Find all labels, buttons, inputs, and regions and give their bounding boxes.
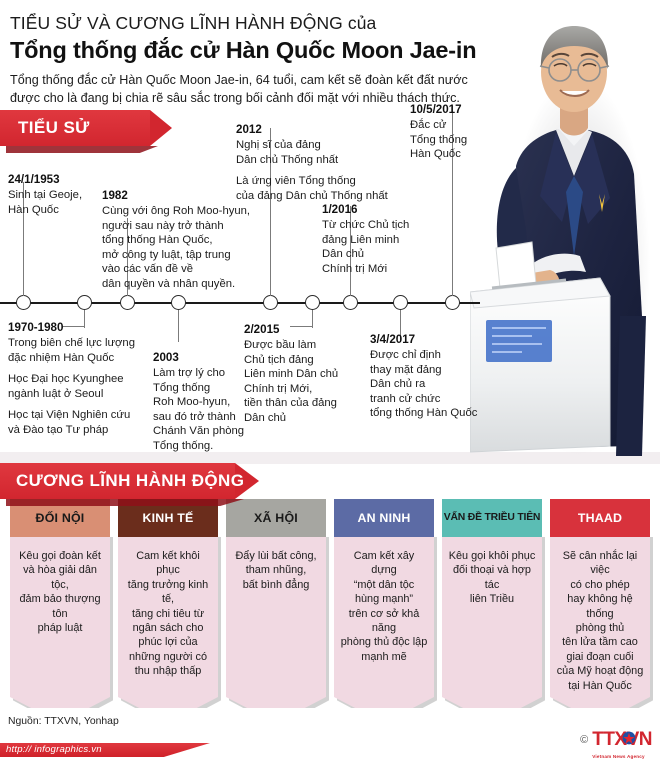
timeline-date: 2003 bbox=[153, 350, 253, 365]
timeline-node-2015 bbox=[305, 295, 320, 310]
column-body-text: Kêu gọi đoàn kết và hòa giải dân tộc, đả… bbox=[19, 550, 101, 634]
site-url-text: http:// infographics.vn bbox=[6, 743, 102, 757]
timeline-date: 1/2016 bbox=[322, 202, 432, 217]
column-body: Kêu gọi đoàn kết và hòa giải dân tộc, đả… bbox=[10, 537, 110, 723]
timeline-node-2012 bbox=[263, 295, 278, 310]
infographic-page: TIỂU SỬ VÀ CƯƠNG LĨNH HÀNH ĐỘNG của Tổng… bbox=[0, 0, 660, 763]
copyright-icon: © bbox=[580, 734, 588, 746]
timeline-body: Học tại Viện Nghiên cứu và Đào tạo Tư ph… bbox=[8, 408, 158, 437]
column-body: Sẽ cân nhắc lại việc có cho phép hay khô… bbox=[550, 537, 650, 723]
timeline-body: Được chỉ định thay mặt đảng Dân chủ ra t… bbox=[370, 348, 500, 421]
banner-shadow bbox=[6, 499, 244, 506]
timeline-body: Cùng với ông Roh Moo-hyun, người sau này… bbox=[102, 204, 262, 292]
biography-timeline: 24/1/1953 Sinh tại Geoje, Hàn Quốc 1982 … bbox=[0, 110, 660, 455]
site-url-bar[interactable]: http:// infographics.vn bbox=[0, 743, 210, 757]
column-header: AN NINH bbox=[334, 499, 434, 537]
timeline-body: Đắc cử Tổng thống Hàn Quốc bbox=[410, 118, 510, 162]
platform-column-doi-noi[interactable]: ĐỐI NỘI Kêu gọi đoàn kết và hòa giải dân… bbox=[10, 499, 110, 723]
column-header: THAAD bbox=[550, 499, 650, 537]
timeline-node-1982 bbox=[120, 295, 135, 310]
timeline-body: Được bầu làm Chủ tịch đảng Liên minh Dân… bbox=[244, 338, 359, 426]
timeline-body: Từ chức Chủ tịch đảng Liên minh Dân chủ … bbox=[322, 218, 432, 276]
timeline-node-1953 bbox=[16, 295, 31, 310]
column-body: Cam kết xây dựng “một dân tộc hùng mạnh”… bbox=[334, 537, 434, 723]
timeline-stem-2003 bbox=[178, 310, 179, 342]
column-body-text: Sẽ cân nhắc lại việc có cho phép hay khô… bbox=[557, 550, 644, 692]
footer: Nguồn: TTXVN, Yonhap http:// infographic… bbox=[0, 708, 660, 763]
timeline-body: Học Đại học Kyunghee ngành luật ở Seoul bbox=[8, 372, 158, 401]
page-subtitle: Tổng thống đắc cử Hàn Quốc Moon Jae-in, … bbox=[10, 72, 490, 107]
banner-label-platform: CƯƠNG LĨNH HÀNH ĐỘNG bbox=[16, 463, 244, 499]
timeline-item-2003: 2003 Làm trợ lý cho Tổng thống Roh Moo-h… bbox=[153, 350, 253, 454]
timeline-date: 3/4/2017 bbox=[370, 332, 500, 347]
timeline-body: Là ứng viên Tổng thống của đảng Dân chủ … bbox=[236, 174, 411, 203]
ttxvn-logo: © TTXVN Vietnam News Agency bbox=[580, 727, 652, 753]
column-body-text: Cam kết xây dựng “một dân tộc hùng mạnh”… bbox=[341, 550, 428, 663]
logo-tagline: Vietnam News Agency bbox=[592, 754, 645, 759]
timeline-item-2017-04: 3/4/2017 Được chỉ định thay mặt đảng Dân… bbox=[370, 332, 500, 421]
source-credit: Nguồn: TTXVN, Yonhap bbox=[8, 716, 119, 727]
column-body-text: Kêu gọi khôi phục đối thoại và hợp tác l… bbox=[449, 550, 536, 605]
timeline-item-1982: 1982 Cùng với ông Roh Moo-hyun, người sa… bbox=[102, 188, 262, 292]
banner-arrow bbox=[150, 110, 172, 146]
column-header: VẤN ĐỀ TRIỀU TIÊN bbox=[442, 499, 542, 537]
timeline-node-2016 bbox=[343, 295, 358, 310]
page-kicker: TIỂU SỬ VÀ CƯƠNG LĨNH HÀNH ĐỘNG của bbox=[10, 12, 480, 34]
column-body-text: Cam kết khôi phục tăng trưởng kinh tế, t… bbox=[128, 550, 208, 677]
timeline-date: 2/2015 bbox=[244, 322, 359, 337]
timeline-item-2016: 1/2016 Từ chức Chủ tịch đảng Liên minh D… bbox=[322, 202, 432, 276]
timeline-node-2017-05 bbox=[445, 295, 460, 310]
timeline-body: Sinh tại Geoje, Hàn Quốc bbox=[8, 188, 103, 217]
page-title: Tổng thống đắc cử Hàn Quốc Moon Jae-in bbox=[10, 36, 490, 64]
banner-shadow bbox=[6, 146, 158, 153]
platform-column-an-ninh[interactable]: AN NINH Cam kết xây dựng “một dân tộc hù… bbox=[334, 499, 434, 723]
timeline-body: Làm trợ lý cho Tổng thống Roh Moo-hyun, … bbox=[153, 366, 253, 454]
timeline-date: 2012 bbox=[236, 122, 411, 137]
column-header: XÃ HỘI bbox=[226, 499, 326, 537]
timeline-axis bbox=[0, 302, 480, 304]
vietnam-star-icon bbox=[622, 731, 636, 745]
column-body: Kêu gọi khôi phục đối thoại và hợp tác l… bbox=[442, 537, 542, 723]
timeline-item-2015: 2/2015 Được bầu làm Chủ tịch đảng Liên m… bbox=[244, 322, 359, 426]
timeline-node-2003 bbox=[171, 295, 186, 310]
timeline-node-1970-1980 bbox=[77, 295, 92, 310]
platform-columns: ĐỐI NỘI Kêu gọi đoàn kết và hòa giải dân… bbox=[0, 499, 660, 714]
timeline-item-1953: 24/1/1953 Sinh tại Geoje, Hàn Quốc bbox=[8, 172, 103, 217]
column-body-text: Đẩy lùi bất công, tham nhũng, bất bình đ… bbox=[235, 550, 316, 591]
timeline-body: Trong biên chế lực lượng đặc nhiệm Hàn Q… bbox=[8, 336, 158, 365]
platform-column-xa-hoi[interactable]: XÃ HỘI Đẩy lùi bất công, tham nhũng, bất… bbox=[226, 499, 326, 723]
banner-label-biography: TIỂU SỬ bbox=[18, 110, 90, 146]
column-body: Đẩy lùi bất công, tham nhũng, bất bình đ… bbox=[226, 537, 326, 723]
timeline-date: 24/1/1953 bbox=[8, 172, 103, 187]
timeline-body: Nghị sĩ của đảng Dân chủ Thống nhất bbox=[236, 138, 411, 167]
logo-wordmark: TTXVN Vietnam News Agency bbox=[592, 729, 652, 751]
timeline-item-1970-1980: 1970-1980 Trong biên chế lực lượng đặc n… bbox=[8, 320, 158, 438]
platform-column-kinh-te[interactable]: KINH TẾ Cam kết khôi phục tăng trưởng ki… bbox=[118, 499, 218, 723]
platform-column-van-de-trieu-tien[interactable]: VẤN ĐỀ TRIỀU TIÊN Kêu gọi khôi phục đối … bbox=[442, 499, 542, 723]
column-body: Cam kết khôi phục tăng trưởng kinh tế, t… bbox=[118, 537, 218, 723]
timeline-node-2017-04 bbox=[393, 295, 408, 310]
platform-column-thaad[interactable]: THAAD Sẽ cân nhắc lại việc có cho phép h… bbox=[550, 499, 650, 723]
timeline-item-2012: 2012 Nghị sĩ của đảng Dân chủ Thống nhất… bbox=[236, 122, 411, 203]
timeline-item-2017-05: 10/5/2017 Đắc cử Tổng thống Hàn Quốc bbox=[410, 102, 510, 162]
timeline-date: 1970-1980 bbox=[8, 320, 158, 335]
